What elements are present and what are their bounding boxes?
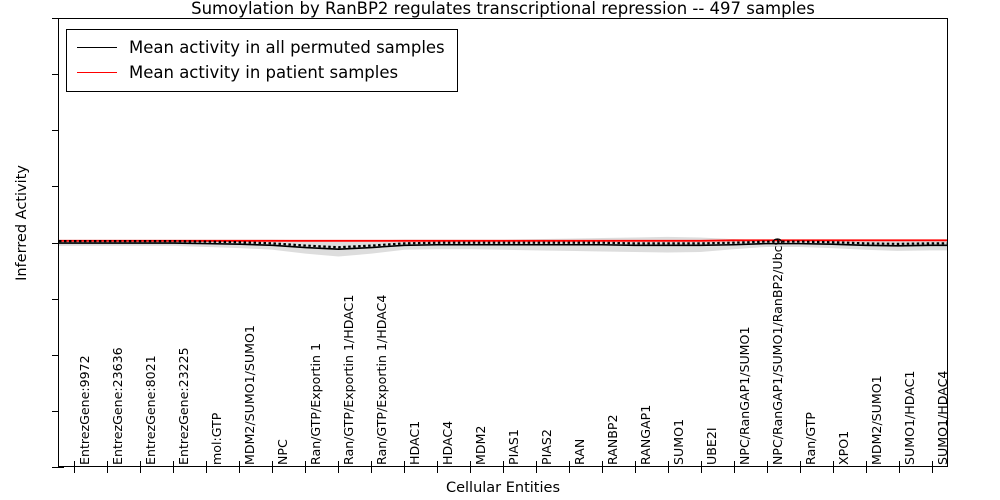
x-tick-mark-inner [74, 461, 75, 467]
x-tick-mark [404, 467, 405, 473]
x-tick-mark [899, 467, 900, 473]
x-tick-label: MDM2/SUMO1 [871, 375, 884, 465]
x-tick-mark [239, 467, 240, 473]
x-tick-mark [206, 467, 207, 473]
chart-title: Sumoylation by RanBP2 regulates transcri… [58, 0, 948, 18]
x-tick-label: PIAS2 [541, 429, 554, 465]
chart-legend: Mean activity in all permuted samples Me… [66, 29, 458, 92]
x-tick-mark-inner [635, 461, 636, 467]
x-tick-label: NPC [277, 439, 290, 465]
x-tick-mark [668, 467, 669, 473]
x-tick-label: SUMO1 [673, 419, 686, 465]
x-tick-mark [734, 467, 735, 473]
x-tick-label: RAN [574, 439, 587, 465]
x-tick-label: MDM2/SUMO1/SUMO1 [244, 325, 257, 465]
x-tick-mark [635, 467, 636, 473]
x-tick-mark [767, 467, 768, 473]
x-tick-mark-inner [503, 461, 504, 467]
x-tick-mark-inner [602, 461, 603, 467]
legend-label-permuted: Mean activity in all permuted samples [129, 38, 445, 57]
x-tick-mark-inner [470, 461, 471, 467]
x-tick-mark [470, 467, 471, 473]
x-tick-mark [272, 467, 273, 473]
x-tick-mark-inner [305, 461, 306, 467]
legend-swatch-patient-icon [77, 72, 117, 73]
x-tick-mark [833, 467, 834, 473]
x-tick-mark [932, 467, 933, 473]
x-tick-mark-inner [701, 461, 702, 467]
x-tick-mark-inner [371, 461, 372, 467]
x-tick-mark-inner [536, 461, 537, 467]
x-tick-mark-inner [173, 461, 174, 467]
x-tick-mark-inner [833, 461, 834, 467]
x-axis-title: Cellular Entities [58, 480, 948, 496]
x-tick-mark-inner [668, 461, 669, 467]
x-tick-label: NPC/RanGAP1/SUMO1 [739, 327, 752, 465]
x-tick-label: Ran/GTP [805, 412, 818, 465]
x-tick-mark [701, 467, 702, 473]
x-tick-mark-inner [338, 461, 339, 467]
x-tick-label: EntrezGene:23636 [112, 347, 125, 465]
legend-label-patient: Mean activity in patient samples [129, 63, 398, 82]
legend-swatch-permuted-icon [77, 47, 117, 48]
patient-mean-line [59, 240, 947, 241]
x-tick-mark-inner [206, 461, 207, 467]
x-tick-label: XPO1 [838, 431, 851, 465]
x-tick-label: PIAS1 [508, 429, 521, 465]
x-tick-mark-inner [734, 461, 735, 467]
x-tick-mark-inner [437, 461, 438, 467]
x-tick-label: NPC/RanGAP1/SUMO1/RanBP2/Ubc9 [772, 237, 785, 465]
x-tick-mark [305, 467, 306, 473]
x-tick-label: mol:GTP [211, 413, 224, 465]
x-tick-label: HDAC4 [442, 421, 455, 465]
x-tick-mark-inner [899, 461, 900, 467]
x-tick-label: RANGAP1 [640, 405, 653, 465]
x-tick-mark [173, 467, 174, 473]
legend-item-patient: Mean activity in patient samples [77, 60, 445, 85]
x-tick-mark-inner [866, 461, 867, 467]
x-tick-label: EntrezGene:23225 [178, 347, 191, 465]
x-tick-label: RANBP2 [607, 414, 620, 465]
x-tick-mark [437, 467, 438, 473]
x-tick-mark [140, 467, 141, 473]
x-tick-mark [371, 467, 372, 473]
x-tick-mark-inner [239, 461, 240, 467]
x-tick-mark [338, 467, 339, 473]
x-tick-mark [800, 467, 801, 473]
x-tick-label: UBE2I [706, 427, 719, 465]
x-tick-mark [536, 467, 537, 473]
legend-item-permuted: Mean activity in all permuted samples [77, 35, 445, 60]
x-tick-label: Ran/GTP/Exportin 1 [310, 343, 323, 465]
x-tick-mark [602, 467, 603, 473]
x-tick-mark [569, 467, 570, 473]
x-tick-mark-inner [800, 461, 801, 467]
x-tick-mark-inner [107, 461, 108, 467]
y-axis-title: Inferred Activity [14, 23, 30, 423]
x-tick-mark [866, 467, 867, 473]
x-tick-mark-inner [140, 461, 141, 467]
x-tick-label: EntrezGene:8021 [145, 355, 158, 465]
x-tick-mark-inner [272, 461, 273, 467]
x-tick-mark [107, 467, 108, 473]
x-tick-label: SUMO1/HDAC1 [904, 371, 917, 465]
x-tick-mark-inner [932, 461, 933, 467]
chart-figure: Sumoylation by RanBP2 regulates transcri… [0, 0, 1000, 500]
x-tick-label: SUMO1/HDAC4 [937, 371, 950, 465]
x-tick-label: MDM2 [475, 426, 488, 465]
x-tick-label: Ran/GTP/Exportin 1/HDAC1 [343, 295, 356, 465]
x-tick-label: Ran/GTP/Exportin 1/HDAC4 [376, 295, 389, 465]
x-tick-mark-inner [404, 461, 405, 467]
x-tick-mark [74, 467, 75, 473]
x-tick-label: EntrezGene:9972 [79, 355, 92, 465]
x-tick-mark [503, 467, 504, 473]
x-tick-mark-inner [569, 461, 570, 467]
y-tick-mark-inner [58, 467, 64, 468]
x-tick-mark-inner [767, 461, 768, 467]
x-tick-label: HDAC1 [409, 421, 422, 465]
